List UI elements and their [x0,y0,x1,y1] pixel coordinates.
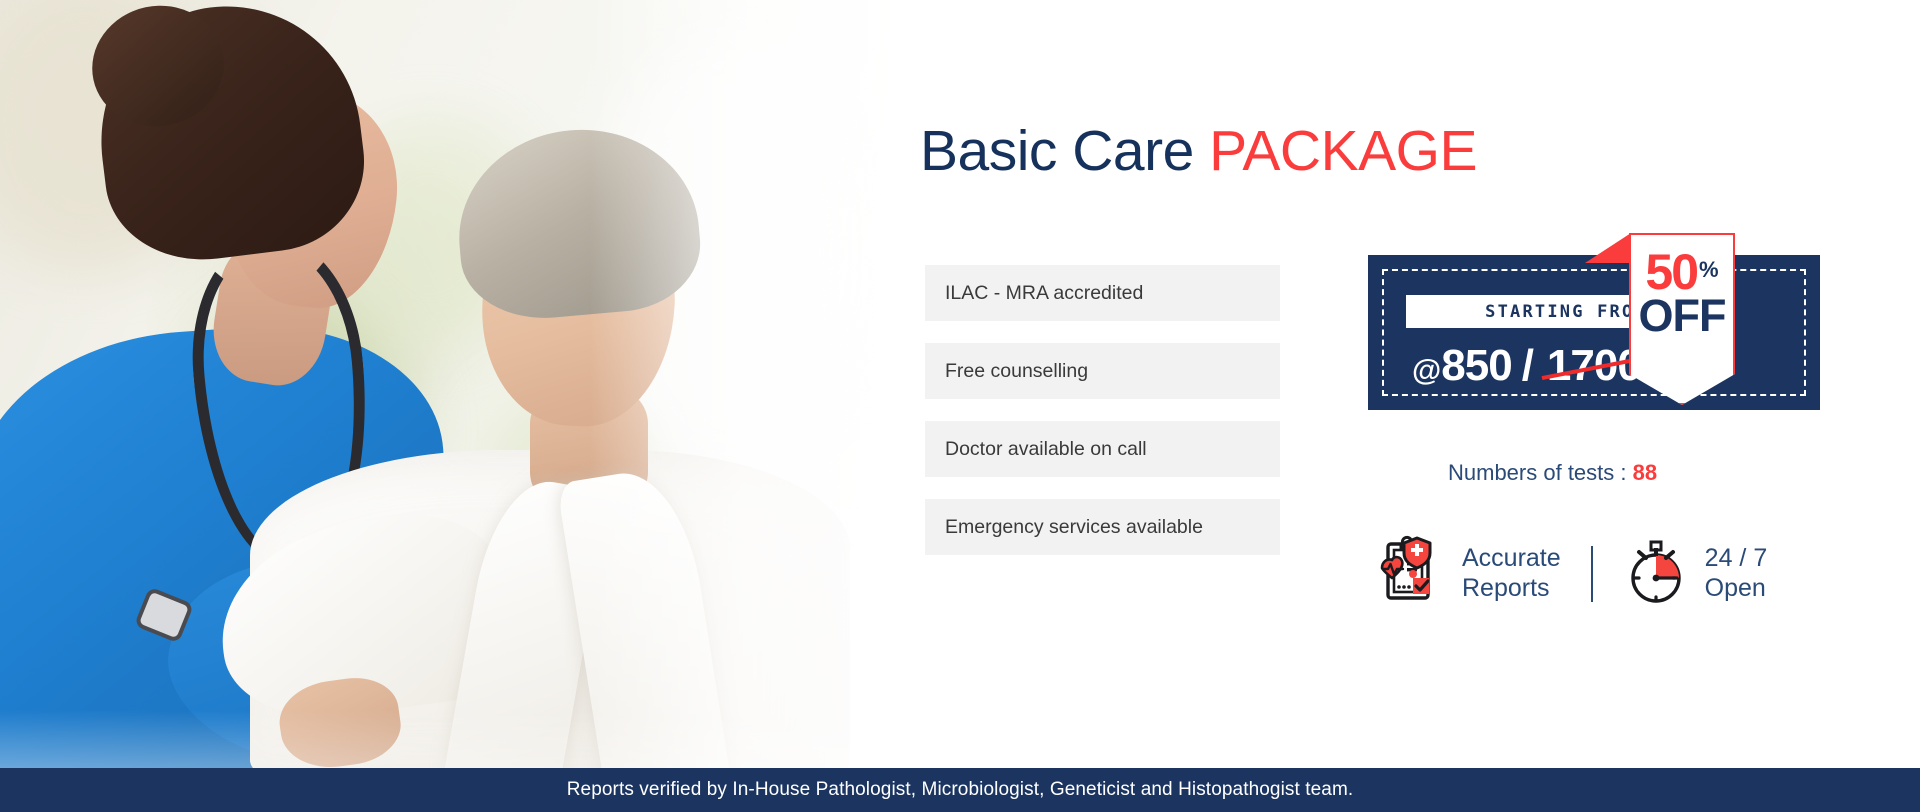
ribbon-top-row: 50 % [1645,251,1718,294]
hero-photo [0,0,920,770]
ribbon-body: 50 % OFF [1629,233,1735,405]
trust-divider [1591,546,1593,602]
trust-badges: Accurate Reports [1372,534,1767,613]
feature-label: Emergency services available [945,516,1203,539]
trust-badge-line1: Accurate [1462,544,1561,574]
trust-badge-accurate-reports: Accurate Reports [1372,534,1561,613]
tests-count-value: 88 [1633,460,1657,485]
price-coupon-area: STARTING FROM @ 850 / 1700 50 % O [1368,255,1828,410]
ribbon-fold [1585,233,1631,263]
stopwatch-icon [1623,536,1689,611]
photo-bottom-fade [0,710,920,770]
discount-value: 50 [1645,251,1697,294]
feature-label: Free counselling [945,360,1088,383]
trust-badge-line2: Reports [1462,574,1561,604]
feature-item[interactable]: Emergency services available [925,499,1280,555]
promo-banner: Basic Care PACKAGE ILAC - MRA accredited… [0,0,1920,812]
discount-ribbon: 50 % OFF [1629,233,1735,405]
starting-from-label: STARTING FROM [1485,302,1647,322]
page-title: Basic Care PACKAGE [920,118,1477,184]
price-current: 850 [1441,341,1511,391]
price-original-wrap: 1700 [1547,341,1641,391]
tests-count: Numbers of tests : 88 [1448,460,1657,486]
feature-item[interactable]: Doctor available on call [925,421,1280,477]
footer-bar: Reports verified by In-House Pathologist… [0,768,1920,812]
feature-item[interactable]: ILAC - MRA accredited [925,265,1280,321]
percent-symbol: % [1699,261,1719,280]
photo-right-fade [590,0,920,770]
off-label: OFF [1639,296,1726,337]
feature-list: ILAC - MRA accredited Free counselling D… [925,265,1280,577]
trust-badge-line2: Open [1705,574,1768,604]
trust-badge-24-7-open: 24 / 7 Open [1623,536,1768,611]
feature-label: Doctor available on call [945,438,1147,461]
feature-item[interactable]: Free counselling [925,343,1280,399]
title-accent: PACKAGE [1209,119,1477,183]
footer-text: Reports verified by In-House Pathologist… [567,779,1354,801]
currency-symbol: @ [1412,354,1441,388]
price-row: @ 850 / 1700 [1412,341,1641,391]
trust-badge-line1: 24 / 7 [1705,544,1768,574]
clipboard-report-icon [1372,534,1446,613]
trust-badge-label: 24 / 7 Open [1705,544,1768,603]
price-separator: / [1522,341,1533,391]
tests-count-label: Numbers of tests : [1448,460,1627,485]
feature-label: ILAC - MRA accredited [945,282,1143,305]
trust-badge-label: Accurate Reports [1462,544,1561,603]
price-coupon[interactable]: STARTING FROM @ 850 / 1700 50 % O [1368,255,1820,410]
title-primary: Basic Care [920,119,1194,183]
